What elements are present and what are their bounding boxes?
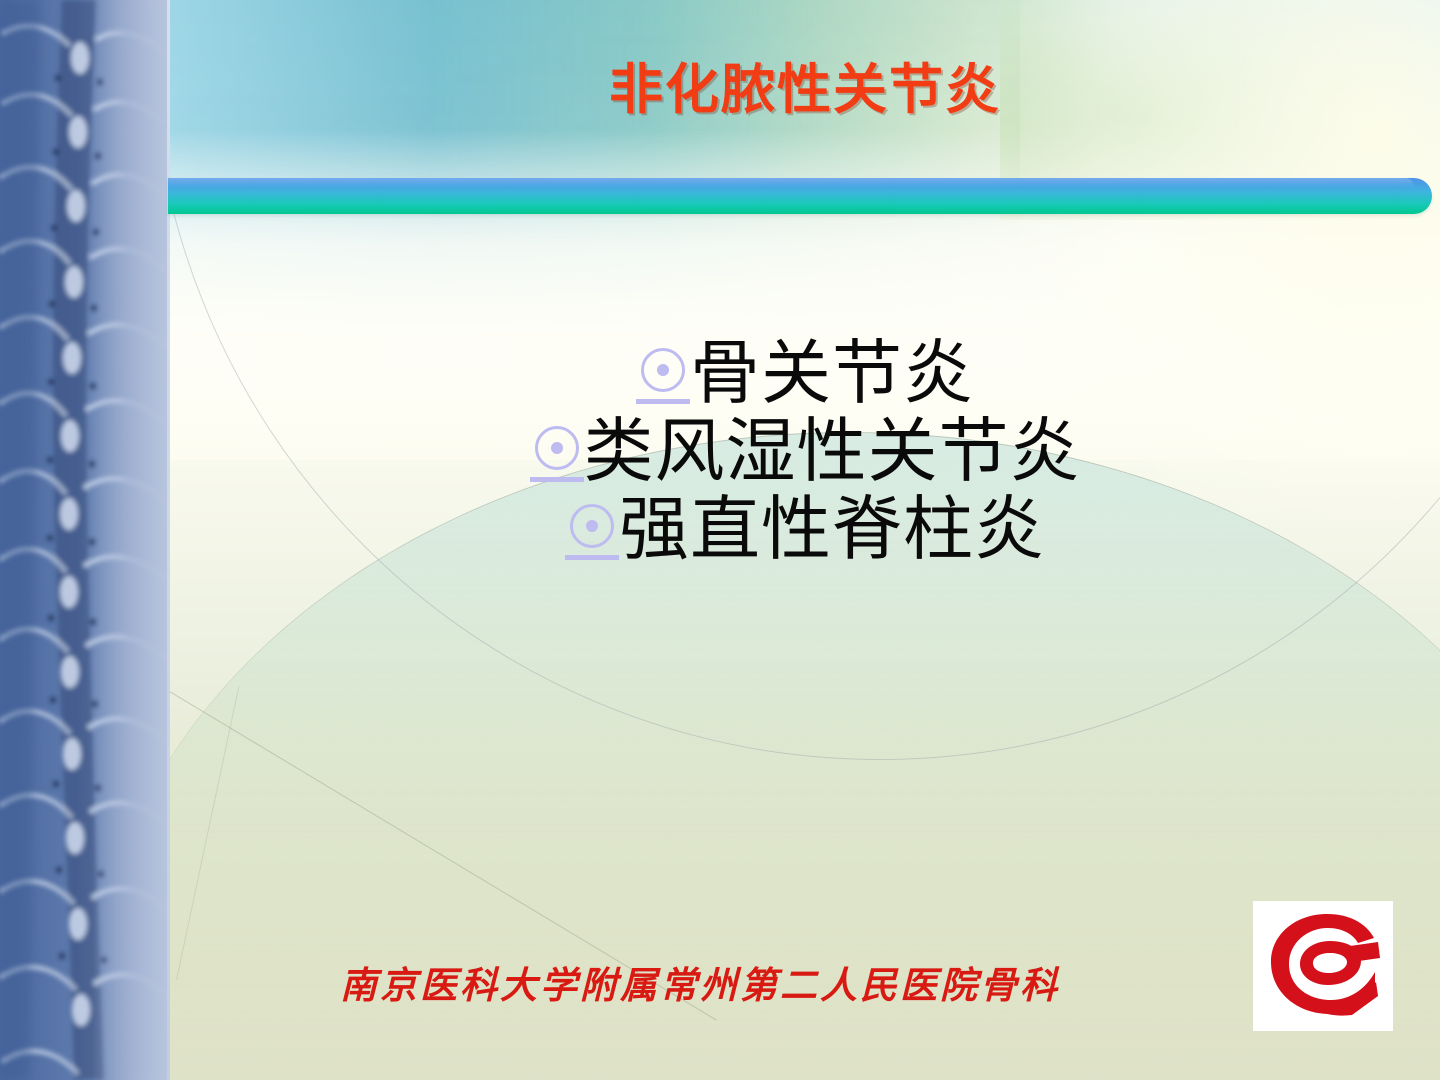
bullet-list: 骨关节炎 类风湿性关节炎 强直性脊柱炎 [170,336,1440,570]
institution-footer: 南京医科大学附属常州第二人民医院骨科 [170,955,1230,1009]
circled-dot-bullet-icon [636,336,690,410]
divider-bar-highlight [168,178,1414,187]
list-item-label: 强直性脊柱炎 [619,493,1045,565]
stylized-e-logo [1264,910,1382,1022]
sidebar-fade-overlay [92,0,170,1080]
circled-dot-bullet-icon [530,414,584,488]
spine-xray-sidebar [0,0,170,1080]
list-item[interactable]: 类风湿性关节炎 [170,414,1440,488]
list-item-label: 骨关节炎 [690,337,974,409]
hospital-logo [1253,901,1393,1031]
circled-dot-bullet-icon [565,492,619,566]
presentation-slide: 非化脓性关节炎 骨关节炎 类风湿性关节炎 强直性脊柱炎 南京医科大学附属常州第二… [0,0,1440,1080]
title-divider-bar [168,178,1432,214]
list-item[interactable]: 强直性脊柱炎 [170,492,1440,566]
slide-title: 非化脓性关节炎 [170,62,1440,119]
list-item[interactable]: 骨关节炎 [170,336,1440,410]
list-item-label: 类风湿性关节炎 [584,415,1081,487]
